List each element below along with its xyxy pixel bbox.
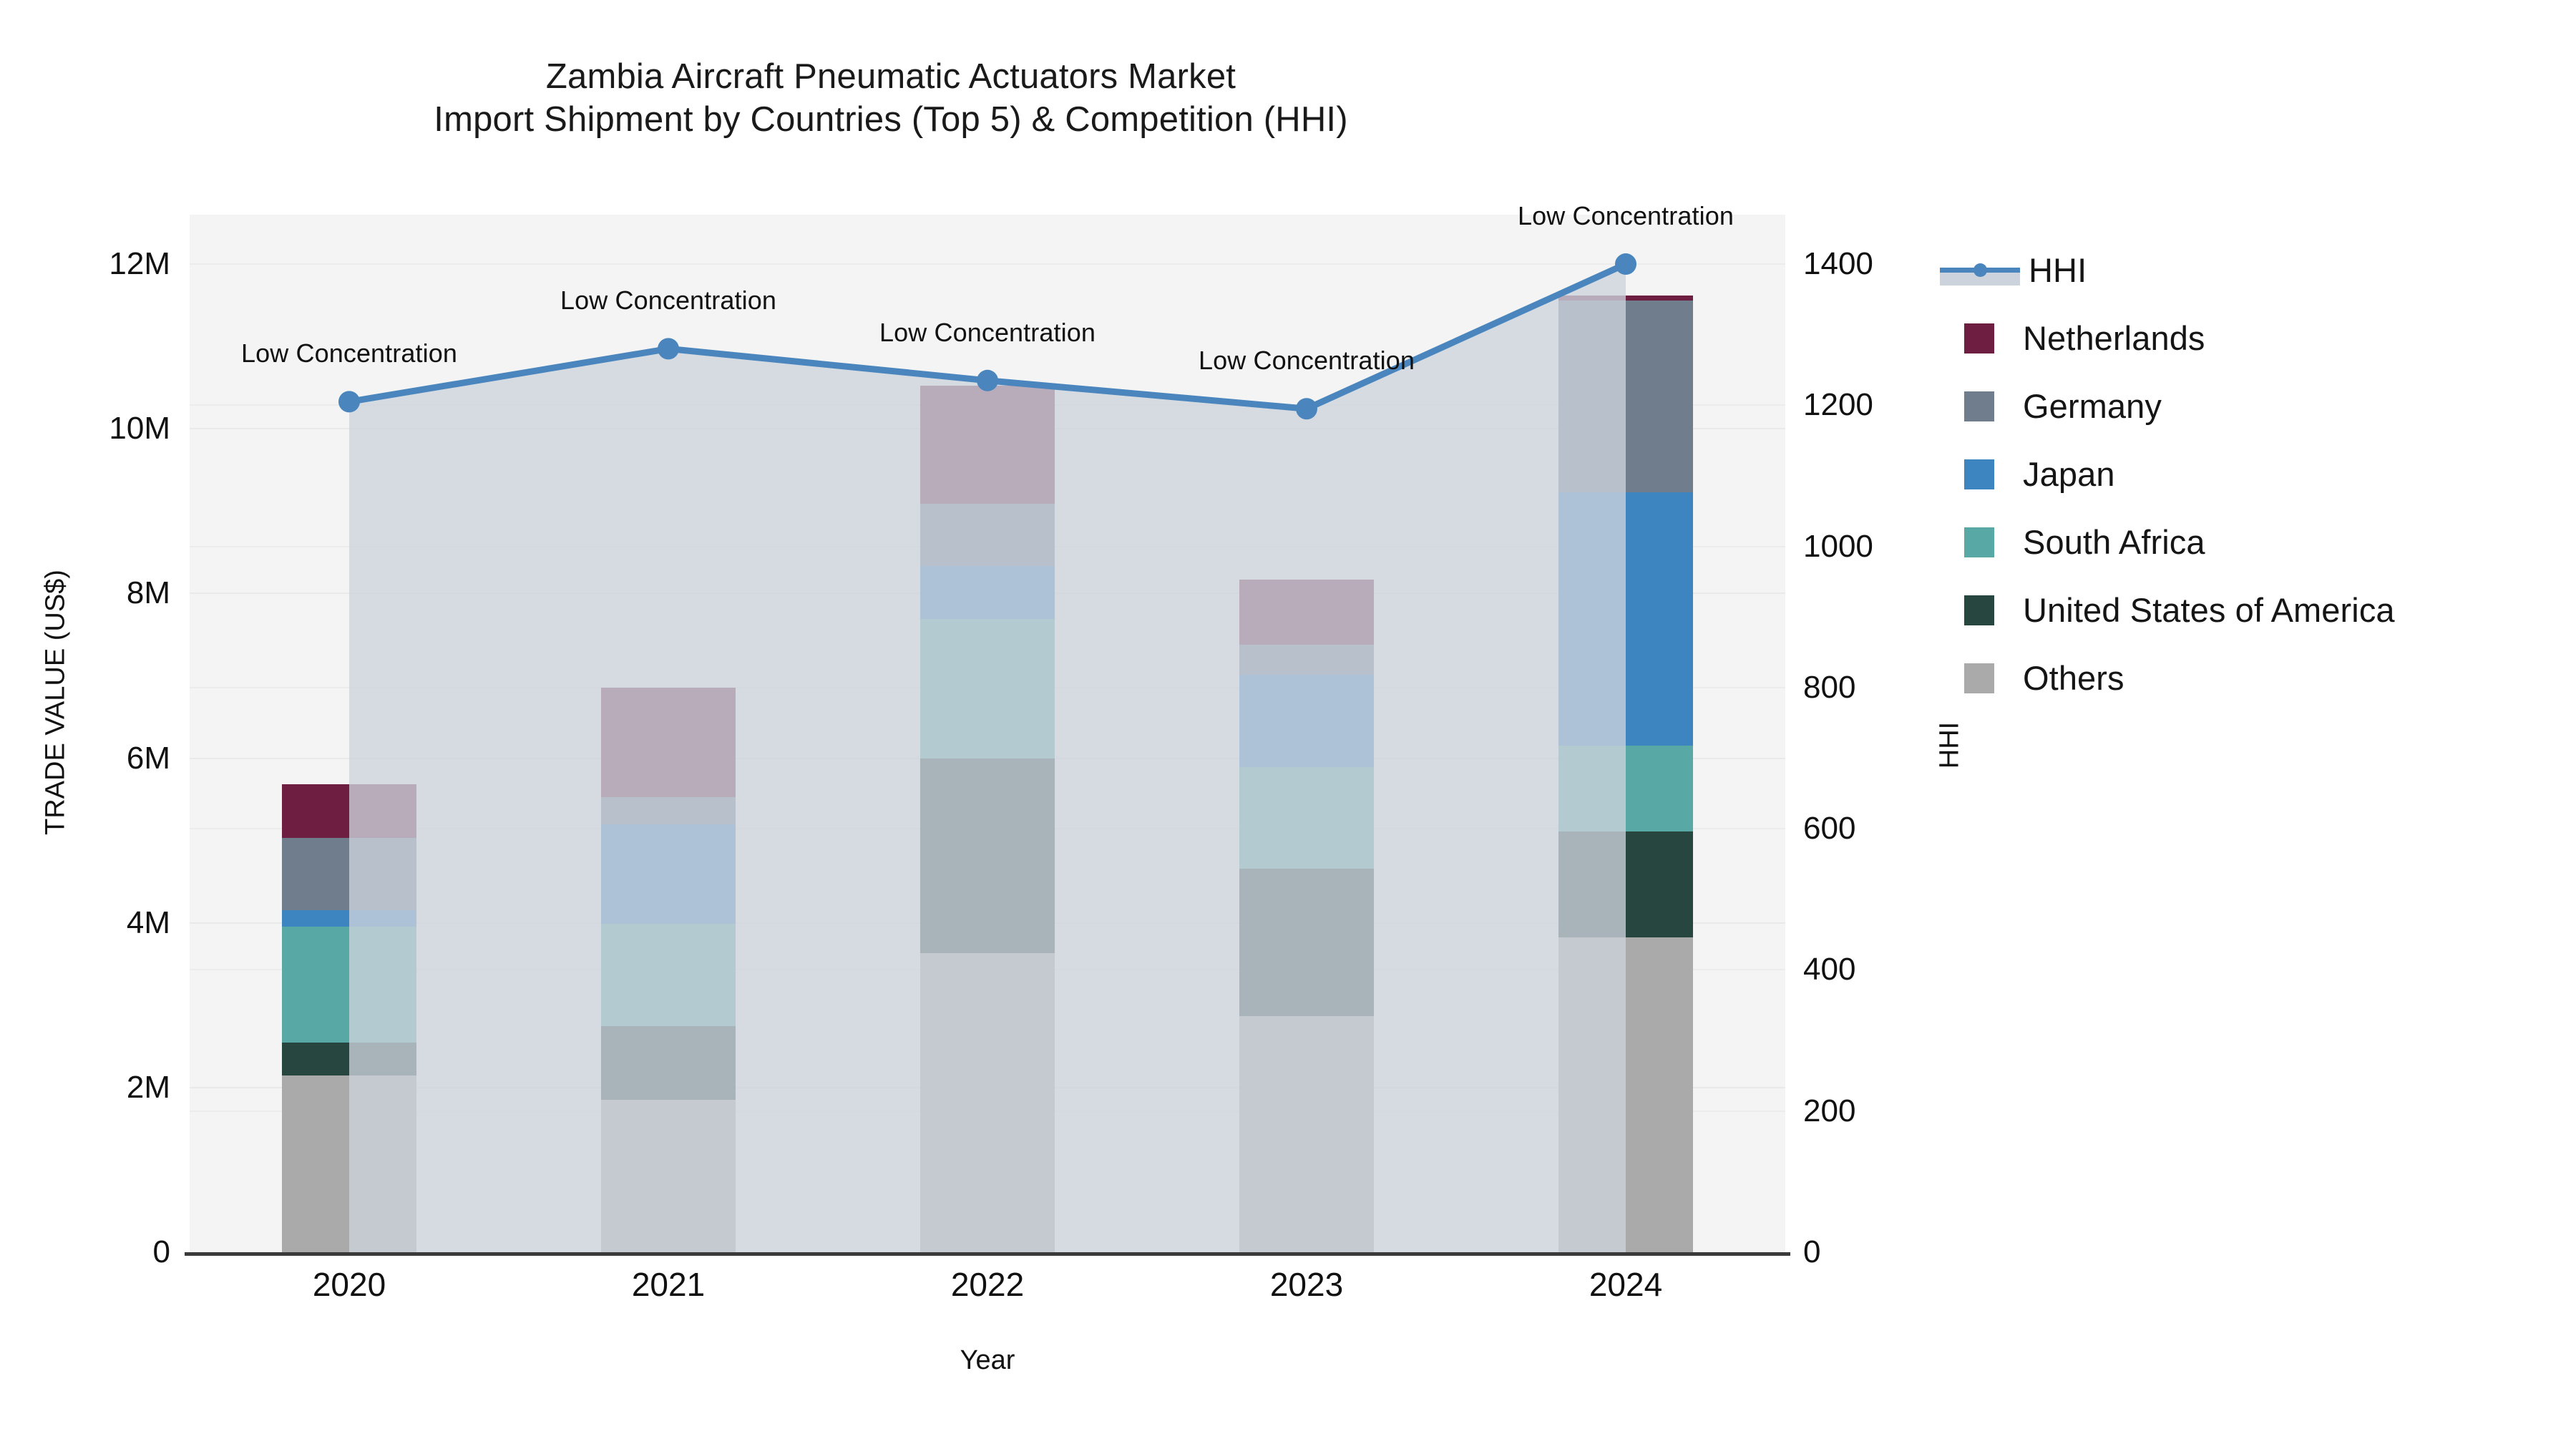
legend-label: Japan — [2023, 454, 2115, 494]
legend-swatch-icon — [1964, 391, 1994, 421]
bar-segment-2024-united-states-of-america[interactable] — [1558, 831, 1693, 937]
y-right-tick-1: 200 — [1803, 1093, 1855, 1129]
x-tick-2021: 2021 — [632, 1265, 705, 1304]
annotation-2022: Low Concentration — [879, 318, 1096, 348]
bar-segment-2021-netherlands[interactable] — [601, 688, 736, 797]
bar-segment-2021-germany[interactable] — [601, 797, 736, 824]
bar-group-2023[interactable] — [1239, 580, 1374, 1252]
legend-line-icon — [1940, 255, 2020, 286]
legend-item-netherlands[interactable]: Netherlands — [1964, 304, 2551, 372]
bar-segment-2024-japan[interactable] — [1558, 492, 1693, 746]
annotation-2023: Low Concentration — [1199, 346, 1415, 376]
bar-segment-2022-japan[interactable] — [920, 566, 1055, 619]
x-tick-2022: 2022 — [951, 1265, 1024, 1304]
bar-segment-2024-others[interactable] — [1558, 937, 1693, 1252]
chart-root: Zambia Aircraft Pneumatic Actuators Mark… — [0, 0, 2576, 1449]
bar-group-2022[interactable] — [920, 386, 1055, 1252]
bar-segment-2024-germany[interactable] — [1558, 301, 1693, 492]
legend-swatch-icon — [1964, 527, 1994, 557]
y-left-tick-4: 8M — [127, 575, 170, 611]
x-tick-2020: 2020 — [313, 1265, 386, 1304]
legend-item-japan[interactable]: Japan — [1964, 440, 2551, 508]
legend-item-germany[interactable]: Germany — [1964, 372, 2551, 440]
bar-segment-2023-japan[interactable] — [1239, 675, 1374, 767]
legend-label: South Africa — [2023, 522, 2205, 562]
y-axis-left-title: TRADE VALUE (US$) — [41, 467, 72, 939]
legend-label: Germany — [2023, 386, 2162, 426]
bar-segment-2022-netherlands[interactable] — [920, 386, 1055, 504]
bar-group-2021[interactable] — [601, 688, 736, 1252]
x-tick-2024: 2024 — [1589, 1265, 1662, 1304]
bar-segment-2020-germany[interactable] — [282, 838, 416, 910]
bar-segment-2021-japan[interactable] — [601, 824, 736, 924]
bar-segment-2023-germany[interactable] — [1239, 645, 1374, 675]
y-right-tick-3: 600 — [1803, 811, 1855, 847]
legend: HHINetherlandsGermanyJapanSouth AfricaUn… — [1964, 236, 2551, 712]
bar-segment-2024-netherlands[interactable] — [1558, 296, 1693, 301]
bar-group-2024[interactable] — [1558, 296, 1693, 1252]
y-right-tick-0: 0 — [1803, 1234, 1820, 1270]
bar-segment-2023-south-africa[interactable] — [1239, 767, 1374, 869]
annotation-2021: Low Concentration — [560, 286, 776, 316]
legend-label: Others — [2023, 658, 2124, 698]
y-left-tick-3: 6M — [127, 741, 170, 776]
bar-segment-2023-united-states-of-america[interactable] — [1239, 869, 1374, 1016]
x-tick-2023: 2023 — [1270, 1265, 1343, 1304]
y-right-tick-5: 1000 — [1803, 529, 1873, 565]
plot-inner — [190, 215, 1785, 1252]
bar-segment-2023-others[interactable] — [1239, 1016, 1374, 1252]
hhi-marker-2020[interactable] — [338, 391, 360, 412]
y-left-tick-2: 4M — [127, 905, 170, 941]
gridline-right-7 — [190, 263, 1785, 265]
legend-label: Netherlands — [2023, 318, 2205, 358]
bar-segment-2020-others[interactable] — [282, 1075, 416, 1252]
bar-segment-2020-japan[interactable] — [282, 910, 416, 927]
legend-swatch-icon — [1964, 595, 1994, 625]
y-left-tick-1: 2M — [127, 1070, 170, 1106]
y-left-tick-5: 10M — [109, 411, 170, 447]
bar-segment-2023-netherlands[interactable] — [1239, 580, 1374, 645]
legend-item-hhi[interactable]: HHI — [1964, 236, 2551, 304]
x-axis-title: Year — [190, 1345, 1785, 1376]
bar-group-2020[interactable] — [282, 784, 416, 1252]
y-right-tick-7: 1400 — [1803, 246, 1873, 282]
y-right-tick-6: 1200 — [1803, 387, 1873, 423]
x-axis-line — [185, 1252, 1790, 1256]
legend-label: HHI — [2029, 250, 2087, 290]
legend-swatch-icon — [1964, 323, 1994, 353]
hhi-marker-2021[interactable] — [658, 338, 679, 359]
bar-segment-2024-south-africa[interactable] — [1558, 746, 1693, 831]
chart-title-line-2: Import Shipment by Countries (Top 5) & C… — [0, 99, 1782, 142]
y-right-tick-4: 800 — [1803, 670, 1855, 706]
y-right-tick-2: 400 — [1803, 952, 1855, 987]
y-left-tick-6: 12M — [109, 246, 170, 282]
y-axis-right-title: HHI — [1935, 617, 1966, 874]
y-left-tick-0: 0 — [153, 1234, 170, 1270]
bar-segment-2021-south-africa[interactable] — [601, 924, 736, 1026]
bar-segment-2021-united-states-of-america[interactable] — [601, 1026, 736, 1101]
chart-title: Zambia Aircraft Pneumatic Actuators Mark… — [0, 56, 1782, 142]
legend-label: United States of America — [2023, 590, 2395, 630]
bar-segment-2020-south-africa[interactable] — [282, 927, 416, 1042]
bar-segment-2020-united-states-of-america[interactable] — [282, 1043, 416, 1075]
plot-area — [190, 215, 1785, 1252]
legend-swatch-icon — [1964, 459, 1994, 489]
legend-item-south-africa[interactable]: South Africa — [1964, 508, 2551, 576]
legend-swatch-icon — [1964, 663, 1994, 693]
bar-segment-2020-netherlands[interactable] — [282, 784, 416, 838]
annotation-2020: Low Concentration — [241, 338, 457, 369]
bar-segment-2022-germany[interactable] — [920, 504, 1055, 566]
legend-line-marker-icon — [1974, 263, 1987, 277]
bar-segment-2022-south-africa[interactable] — [920, 619, 1055, 758]
legend-item-united-states-of-america[interactable]: United States of America — [1964, 576, 2551, 644]
bar-segment-2022-others[interactable] — [920, 953, 1055, 1252]
hhi-marker-2023[interactable] — [1296, 398, 1317, 419]
chart-title-line-1: Zambia Aircraft Pneumatic Actuators Mark… — [0, 56, 1782, 99]
annotation-2024: Low Concentration — [1518, 201, 1734, 231]
bar-segment-2022-united-states-of-america[interactable] — [920, 758, 1055, 954]
y-axis-left-ticks: 02M4M6M8M10M12M — [0, 0, 179, 1449]
bar-segment-2021-others[interactable] — [601, 1100, 736, 1252]
legend-item-others[interactable]: Others — [1964, 644, 2551, 712]
